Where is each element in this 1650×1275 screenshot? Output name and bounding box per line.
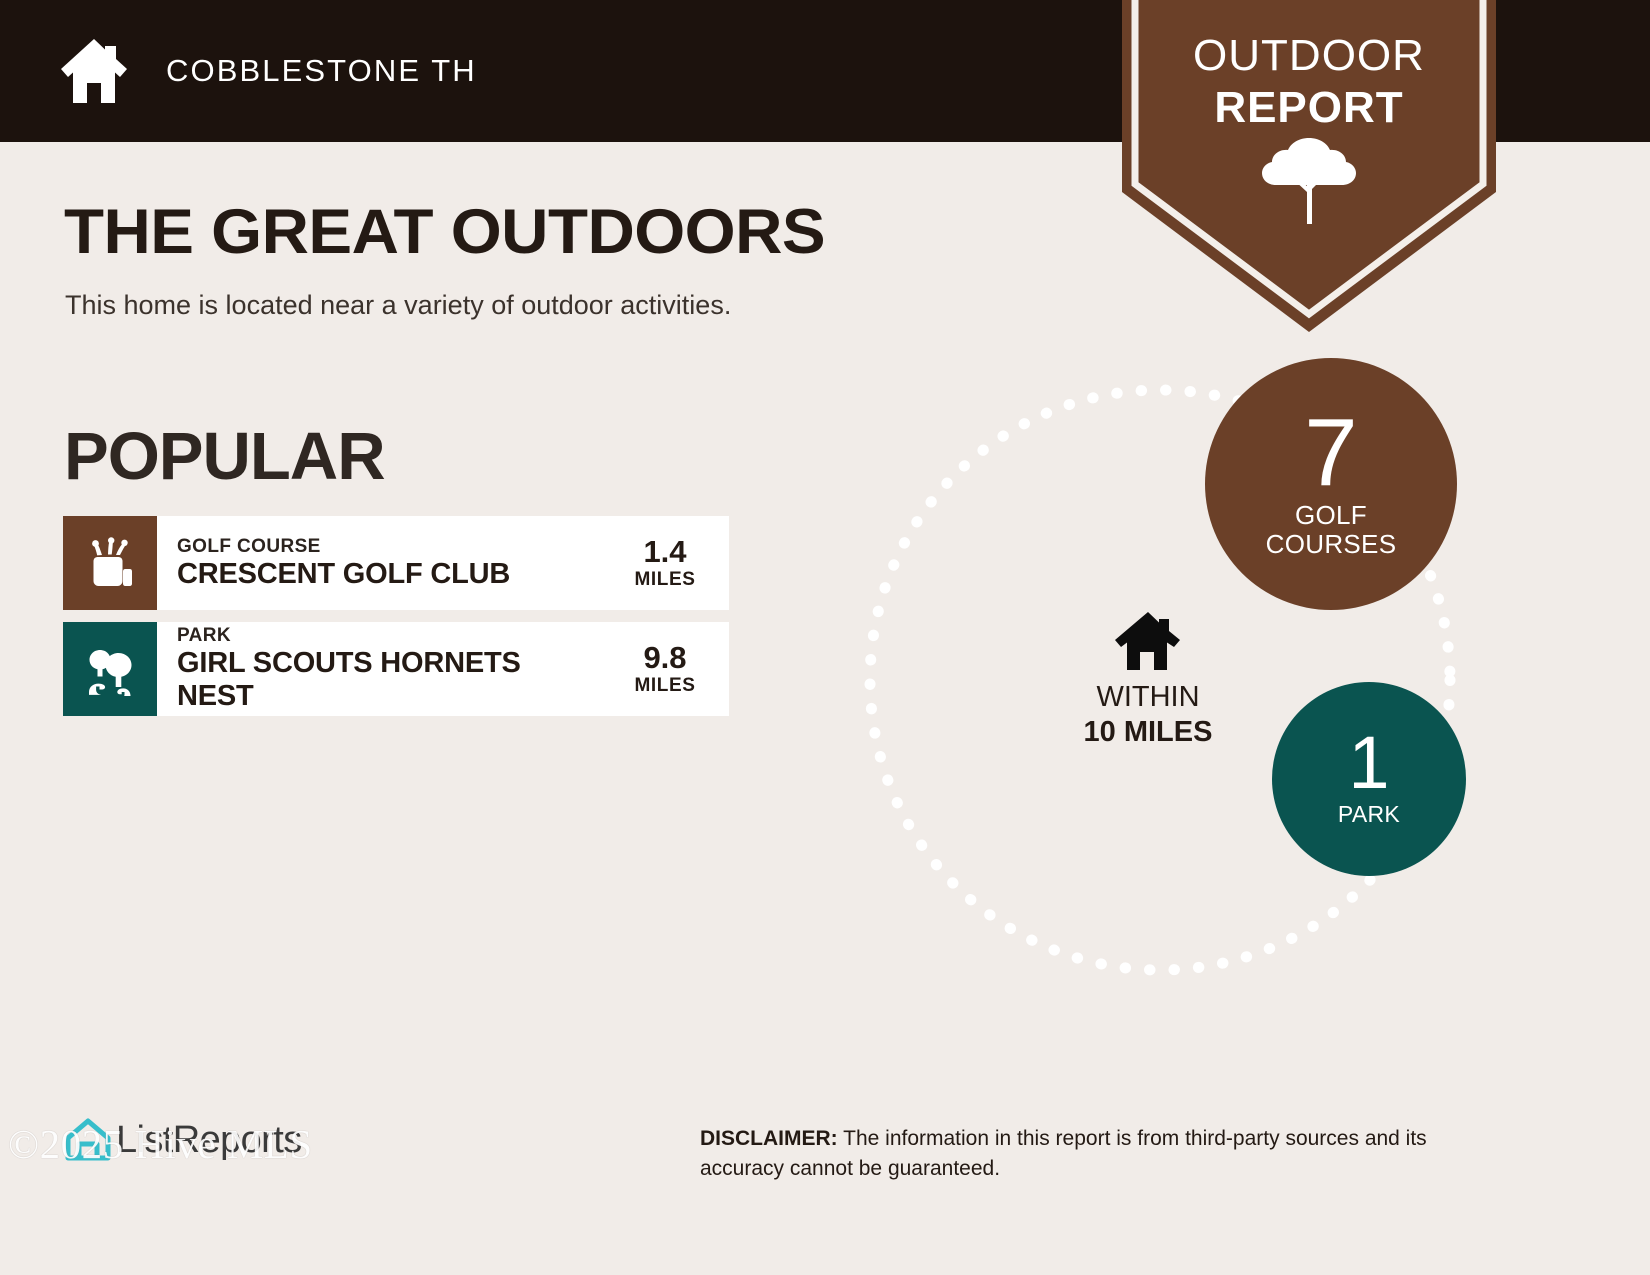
poi-card: PARK GIRL SCOUTS HORNETS NEST 9.8 MILES	[157, 622, 729, 716]
stat-label: GOLF COURSES	[1266, 501, 1397, 559]
stat-circle-golf-courses[interactable]: 7 GOLF COURSES	[1205, 358, 1457, 610]
golf-bag-icon	[83, 536, 137, 590]
stat-count: 7	[1304, 409, 1357, 497]
poi-text: GOLF COURSE CRESCENT GOLF CLUB	[177, 536, 619, 591]
list-item[interactable]: PARK GIRL SCOUTS HORNETS NEST 9.8 MILES	[63, 622, 729, 716]
disclaimer: DISCLAIMER: The information in this repo…	[700, 1124, 1510, 1184]
center-home-group: WITHIN 10 MILES	[1048, 610, 1248, 750]
within-value: 10 MILES	[1048, 715, 1248, 750]
property-name: COBBLESTONE TH	[166, 53, 477, 89]
list-item[interactable]: GOLF COURSE CRESCENT GOLF CLUB 1.4 MILES	[63, 516, 729, 610]
poi-name: CRESCENT GOLF CLUB	[177, 558, 619, 591]
stat-count: 1	[1348, 729, 1389, 797]
poi-text: PARK GIRL SCOUTS HORNETS NEST	[177, 625, 619, 713]
park-trees-icon	[83, 642, 137, 696]
outdoor-report-badge: OUTDOOR REPORT	[1122, 0, 1496, 332]
page-title: THE GREAT OUTDOORS	[64, 196, 825, 268]
stat-label-line-2: COURSES	[1266, 530, 1397, 559]
poi-icon-tile	[63, 622, 157, 716]
poi-distance-unit: MILES	[619, 674, 711, 697]
poi-distance-unit: MILES	[619, 568, 711, 591]
poi-name: GIRL SCOUTS HORNETS NEST	[177, 647, 527, 713]
mls-watermark: ©2025 Hive MLS	[8, 1120, 313, 1168]
stat-label: PARK	[1338, 800, 1400, 829]
poi-card: GOLF COURSE CRESCENT GOLF CLUB 1.4 MILES	[157, 516, 729, 610]
poi-icon-tile	[63, 516, 157, 610]
proximity-diagram: WITHIN 10 MILES 7 GOLF COURSES 1 PARK	[820, 330, 1600, 1030]
stat-circle-parks[interactable]: 1 PARK	[1272, 682, 1466, 876]
poi-distance-value: 1.4	[619, 535, 711, 568]
home-icon	[55, 37, 133, 105]
poi-distance: 9.8 MILES	[619, 641, 711, 697]
disclaimer-label: DISCLAIMER:	[700, 1127, 838, 1150]
within-label: WITHIN	[1048, 680, 1248, 715]
page-subtitle: This home is located near a variety of o…	[65, 290, 731, 321]
section-title-popular: POPULAR	[64, 418, 385, 495]
poi-category: GOLF COURSE	[177, 536, 619, 558]
poi-distance-value: 9.8	[619, 641, 711, 674]
stat-label-line-1: GOLF	[1266, 501, 1397, 530]
poi-category: PARK	[177, 625, 619, 647]
popular-list: GOLF COURSE CRESCENT GOLF CLUB 1.4 MILES	[63, 516, 729, 728]
poi-distance: 1.4 MILES	[619, 535, 711, 591]
home-icon	[1112, 610, 1184, 672]
